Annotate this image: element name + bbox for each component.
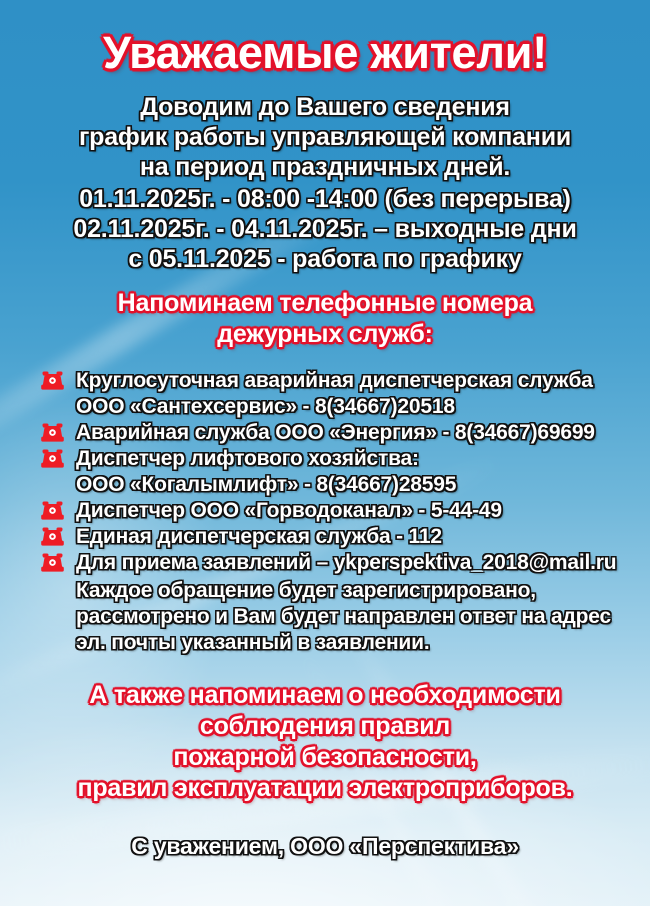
telephone-icon xyxy=(40,524,76,547)
announcement-poster: Уважаемые жители! Доводим до Вашего свед… xyxy=(0,0,650,906)
poster-title-text: Уважаемые жители! xyxy=(0,26,650,80)
telephone-icon xyxy=(40,368,76,391)
list-item: Для приема заявлений – ykperspektiva_201… xyxy=(40,550,640,576)
note-line: эл. почты указанный в заявлении. xyxy=(76,630,640,656)
list-item: Круглосуточная аварийная диспетчерская с… xyxy=(40,368,640,394)
list-item-label: Диспетчер лифтового хозяйства: xyxy=(76,446,640,472)
signature-text: С уважением, ООО «Перспектива» xyxy=(0,832,650,860)
telephone-icon xyxy=(40,550,76,573)
telephone-icon xyxy=(40,446,76,469)
emergency-phone-list: Круглосуточная аварийная диспетчерская с… xyxy=(0,368,650,576)
list-item-label: ООО «Сантехсервис» - 8(34667)20518 xyxy=(76,394,640,420)
safety-line: соблюдения правил xyxy=(0,711,650,742)
application-note: Каждое обращение будет зарегистрировано,… xyxy=(0,578,650,656)
list-item-label: ООО «Когалымлифт» - 8(34667)28595 xyxy=(76,472,640,498)
list-item-label: Круглосуточная аварийная диспетчерская с… xyxy=(76,368,640,394)
intro-line: на период праздничных дней. xyxy=(0,152,650,182)
list-item-label: Аварийная служба ООО «Энергия» - 8(34667… xyxy=(76,420,640,446)
list-item-label: Для приема заявлений – ykperspektiva_201… xyxy=(76,550,640,576)
list-item: Диспетчер ООО «Горводоканал» - 5-44-49 xyxy=(40,498,640,524)
safety-line: А также напоминаем о необходимости xyxy=(0,680,650,711)
note-line: рассмотрено и Вам будет направлен ответ … xyxy=(76,604,640,630)
list-item: Единая диспетчерская служба - 112 xyxy=(40,524,640,550)
telephone-icon xyxy=(40,498,76,521)
telephone-icon xyxy=(40,420,76,443)
note-line: Каждое обращение будет зарегистрировано, xyxy=(76,578,640,604)
safety-line: пожарной безопасности, xyxy=(0,742,650,773)
list-item: Диспетчер лифтового хозяйства: xyxy=(40,446,640,472)
list-item: ООО «Когалымлифт» - 8(34667)28595 xyxy=(40,472,640,498)
list-item-label: Диспетчер ООО «Горводоканал» - 5-44-49 xyxy=(76,498,640,524)
poster-title: Уважаемые жители! xyxy=(0,0,650,80)
intro-line: график работы управляющей компании xyxy=(0,122,650,152)
list-item: Аварийная служба ООО «Энергия» - 8(34667… xyxy=(40,420,640,446)
poster-content: Уважаемые жители! Доводим до Вашего свед… xyxy=(0,0,650,860)
schedule-line: 01.11.2025г. - 08:00 -14:00 (без перерыв… xyxy=(0,184,650,214)
schedule-line: 02.11.2025г. - 04.11.2025г. – выходные д… xyxy=(0,214,650,244)
list-item: ООО «Сантехсервис» - 8(34667)20518 xyxy=(40,394,640,420)
safety-line: правил эксплуатации электроприборов. xyxy=(0,773,650,804)
reminder-heading: Напоминаем телефонные номера дежурных сл… xyxy=(0,288,650,350)
safety-reminder: А также напоминаем о необходимости соблю… xyxy=(0,680,650,804)
reminder-heading-line: дежурных служб: xyxy=(0,319,650,350)
schedule-line: с 05.11.2025 - работа по графику xyxy=(0,244,650,274)
list-item-label: Единая диспетчерская служба - 112 xyxy=(76,524,640,550)
intro-paragraph: Доводим до Вашего сведения график работы… xyxy=(0,92,650,182)
reminder-heading-line: Напоминаем телефонные номера xyxy=(0,288,650,319)
schedule-block: 01.11.2025г. - 08:00 -14:00 (без перерыв… xyxy=(0,184,650,274)
signature-block: С уважением, ООО «Перспектива» xyxy=(0,832,650,860)
intro-line: Доводим до Вашего сведения xyxy=(0,92,650,122)
